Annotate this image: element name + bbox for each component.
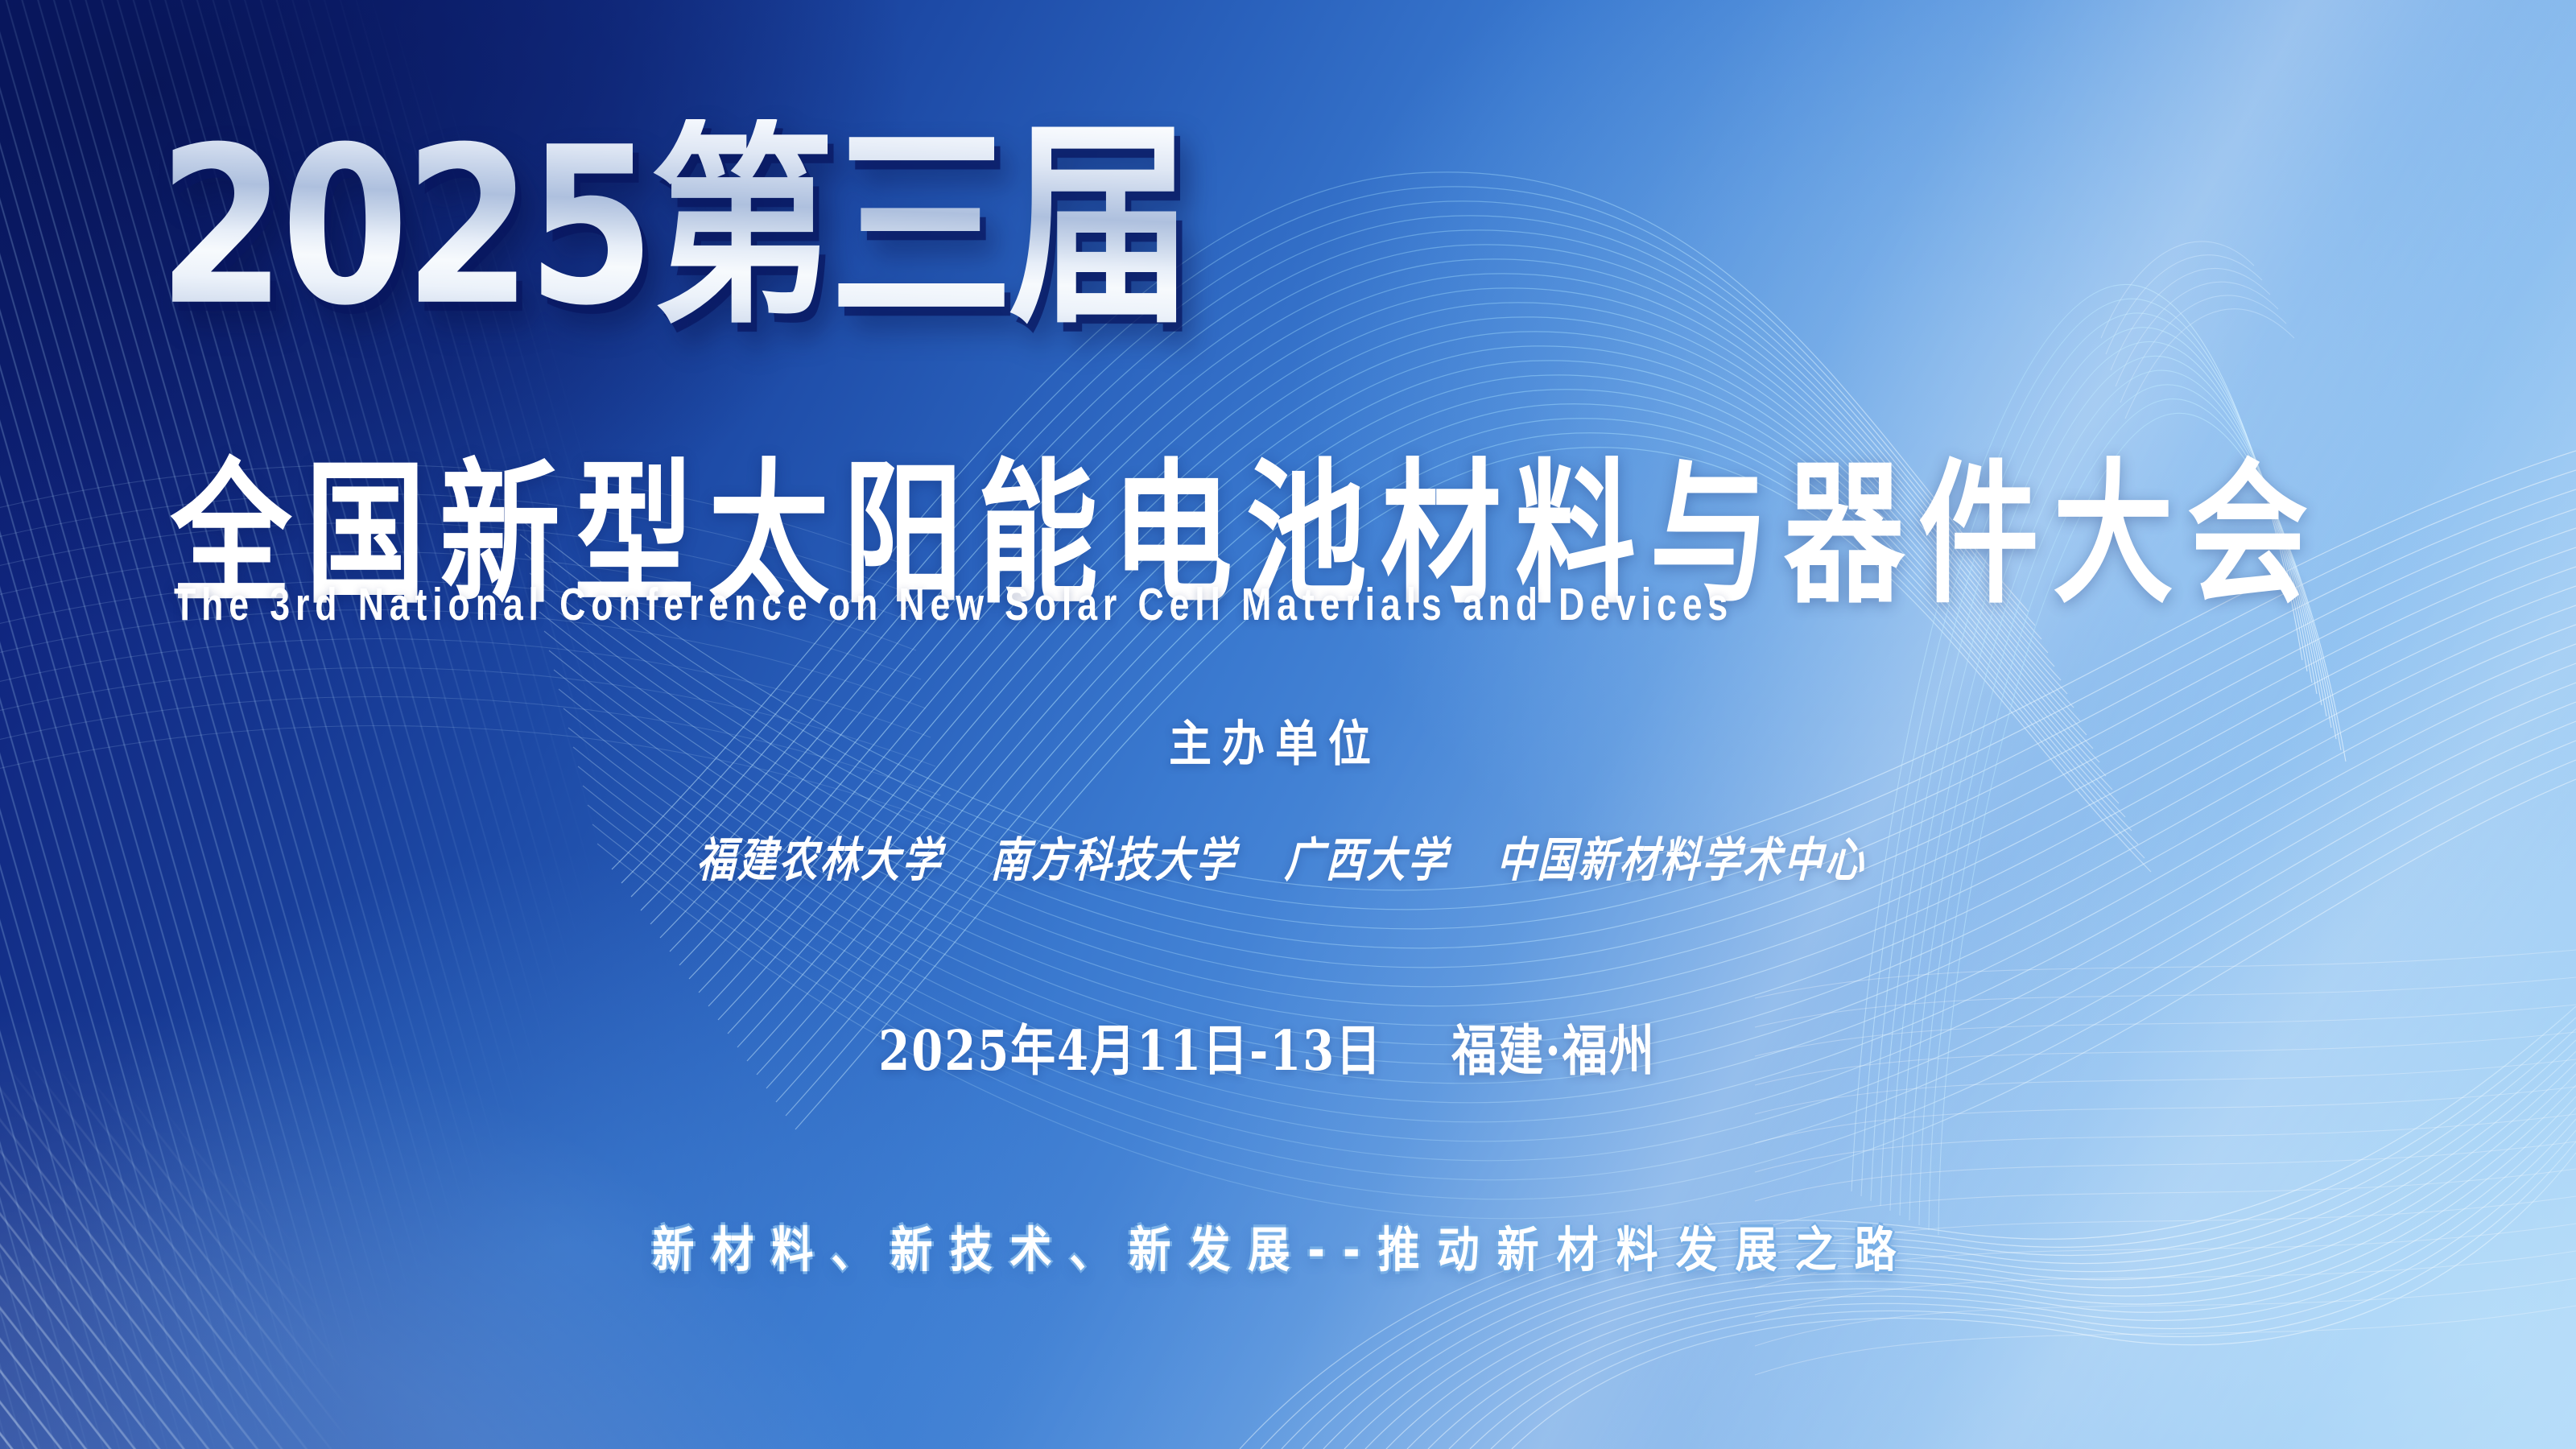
poster-canvas: 2025第三届 全国新型太阳能电池材料与器件大会 The 3rd Nationa… [0,0,2576,1449]
english-subtitle: The 3rd National Conference on New Solar… [174,583,1733,629]
host-organizations-list: 福建农林大学 南方科技大学 广西大学 中国新材料学术中心 [0,837,2570,885]
poster-content: 2025第三届 全国新型太阳能电池材料与器件大会 The 3rd Nationa… [0,0,2576,1449]
host-heading: 主办单位 [0,720,2563,768]
slogan: 新材料、新技术、新发展--推动新材料发展之路 [0,1227,2571,1275]
edition-title: 2025第三届 [158,119,1187,336]
date-and-location: 2025年4月11日-13日 福建·福州 [0,1024,2555,1079]
